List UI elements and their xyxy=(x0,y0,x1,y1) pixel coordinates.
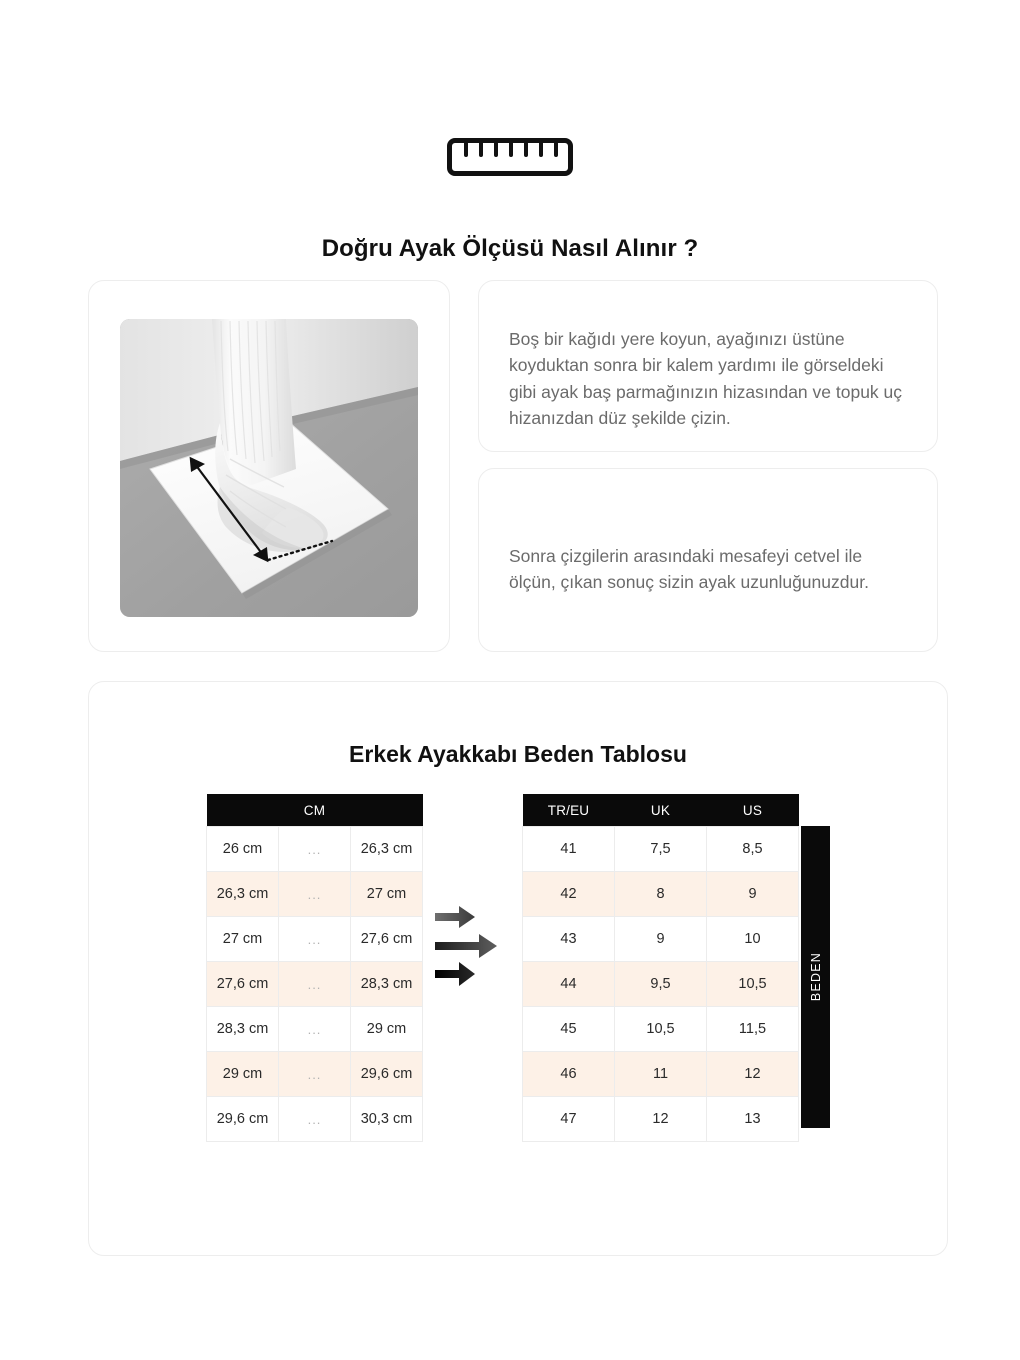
beden-side-label: BEDEN xyxy=(801,826,830,1128)
cm-range-table: CM 26 cm...26,3 cm26,3 cm...27 cm27 cm..… xyxy=(206,794,423,1142)
size-table-header-us: US xyxy=(707,794,799,827)
size-cell-us: 8,5 xyxy=(707,827,799,872)
size-table-header-row: TR/EUUKUS xyxy=(523,794,799,827)
size-cell-us: 9 xyxy=(707,872,799,917)
size-table-header-tr-eu: TR/EU xyxy=(523,794,615,827)
table-row: 461112 xyxy=(523,1052,799,1097)
cm-range-to: 26,3 cm xyxy=(351,827,423,872)
table-row: 29 cm...29,6 cm xyxy=(207,1052,423,1097)
table-row: 27,6 cm...28,3 cm xyxy=(207,962,423,1007)
size-chart-title: Erkek Ayakkabı Beden Tablosu xyxy=(89,741,947,768)
table-row: 28,3 cm...29 cm xyxy=(207,1007,423,1052)
cm-range-separator: ... xyxy=(279,962,351,1007)
size-cell-uk: 9 xyxy=(615,917,707,962)
instruction-text-2: Sonra çizgilerin arasındaki mesafeyi cet… xyxy=(509,543,909,596)
table-row: 27 cm...27,6 cm xyxy=(207,917,423,962)
cm-range-to: 27,6 cm xyxy=(351,917,423,962)
size-cell-us: 11,5 xyxy=(707,1007,799,1052)
table-row: 417,58,5 xyxy=(523,827,799,872)
size-cell-us: 10 xyxy=(707,917,799,962)
size-cell-uk: 10,5 xyxy=(615,1007,707,1052)
table-row: 26 cm...26,3 cm xyxy=(207,827,423,872)
size-cell-tr-eu: 45 xyxy=(523,1007,615,1052)
size-cell-tr-eu: 44 xyxy=(523,962,615,1007)
table-row: 29,6 cm...30,3 cm xyxy=(207,1097,423,1142)
cm-range-from: 26 cm xyxy=(207,827,279,872)
instruction-card-2: Sonra çizgilerin arasındaki mesafeyi cet… xyxy=(478,468,938,652)
ruler-icon-container xyxy=(0,138,1020,176)
foot-measurement-photo xyxy=(120,319,418,617)
size-table-body: 417,58,5428943910449,510,54510,511,54611… xyxy=(523,827,799,1142)
cm-range-separator: ... xyxy=(279,1052,351,1097)
size-cell-tr-eu: 46 xyxy=(523,1052,615,1097)
cm-range-separator: ... xyxy=(279,1097,351,1142)
size-cell-uk: 11 xyxy=(615,1052,707,1097)
page-title: Doğru Ayak Ölçüsü Nasıl Alınır ? xyxy=(0,235,1020,263)
size-chart-card: Erkek Ayakkabı Beden Tablosu CM 26 cm...… xyxy=(88,681,948,1256)
ruler-icon xyxy=(447,138,573,176)
cm-table-header: CM xyxy=(207,794,423,827)
cm-range-from: 26,3 cm xyxy=(207,872,279,917)
cm-range-from: 28,3 cm xyxy=(207,1007,279,1052)
size-cell-uk: 7,5 xyxy=(615,827,707,872)
size-cell-us: 13 xyxy=(707,1097,799,1142)
shoe-size-table: TR/EUUKUS 417,58,5428943910449,510,54510… xyxy=(522,794,799,1142)
cm-range-separator: ... xyxy=(279,872,351,917)
cm-range-separator: ... xyxy=(279,1007,351,1052)
size-cell-uk: 8 xyxy=(615,872,707,917)
table-row: 26,3 cm...27 cm xyxy=(207,872,423,917)
illustration-card xyxy=(88,280,450,652)
size-tables-area: CM 26 cm...26,3 cm26,3 cm...27 cm27 cm..… xyxy=(89,794,947,1134)
size-guide-page: Doğru Ayak Ölçüsü Nasıl Alınır ? xyxy=(0,0,1020,1360)
cm-range-from: 29 cm xyxy=(207,1052,279,1097)
cm-range-from: 27,6 cm xyxy=(207,962,279,1007)
table-row: 449,510,5 xyxy=(523,962,799,1007)
three-right-arrows-icon xyxy=(433,900,519,990)
cm-range-to: 29 cm xyxy=(351,1007,423,1052)
cm-range-to: 28,3 cm xyxy=(351,962,423,1007)
cm-table-body: 26 cm...26,3 cm26,3 cm...27 cm27 cm...27… xyxy=(207,827,423,1142)
size-cell-tr-eu: 47 xyxy=(523,1097,615,1142)
instruction-text-1: Boş bir kağıdı yere koyun, ayağınızı üst… xyxy=(509,326,909,432)
cm-range-separator: ... xyxy=(279,827,351,872)
beden-side-label-text: BEDEN xyxy=(809,952,823,1001)
size-cell-tr-eu: 41 xyxy=(523,827,615,872)
size-cell-tr-eu: 42 xyxy=(523,872,615,917)
table-row: 4510,511,5 xyxy=(523,1007,799,1052)
cm-range-from: 27 cm xyxy=(207,917,279,962)
cm-range-to: 27 cm xyxy=(351,872,423,917)
size-cell-us: 12 xyxy=(707,1052,799,1097)
cm-table-header-row: CM xyxy=(207,794,423,827)
cm-range-to: 30,3 cm xyxy=(351,1097,423,1142)
cm-range-separator: ... xyxy=(279,917,351,962)
cm-range-to: 29,6 cm xyxy=(351,1052,423,1097)
table-row: 43910 xyxy=(523,917,799,962)
instruction-card-1: Boş bir kağıdı yere koyun, ayağınızı üst… xyxy=(478,280,938,452)
cm-range-from: 29,6 cm xyxy=(207,1097,279,1142)
size-cell-uk: 12 xyxy=(615,1097,707,1142)
table-row: 4289 xyxy=(523,872,799,917)
table-row: 471213 xyxy=(523,1097,799,1142)
size-cell-us: 10,5 xyxy=(707,962,799,1007)
size-table-header-uk: UK xyxy=(615,794,707,827)
size-cell-tr-eu: 43 xyxy=(523,917,615,962)
size-cell-uk: 9,5 xyxy=(615,962,707,1007)
